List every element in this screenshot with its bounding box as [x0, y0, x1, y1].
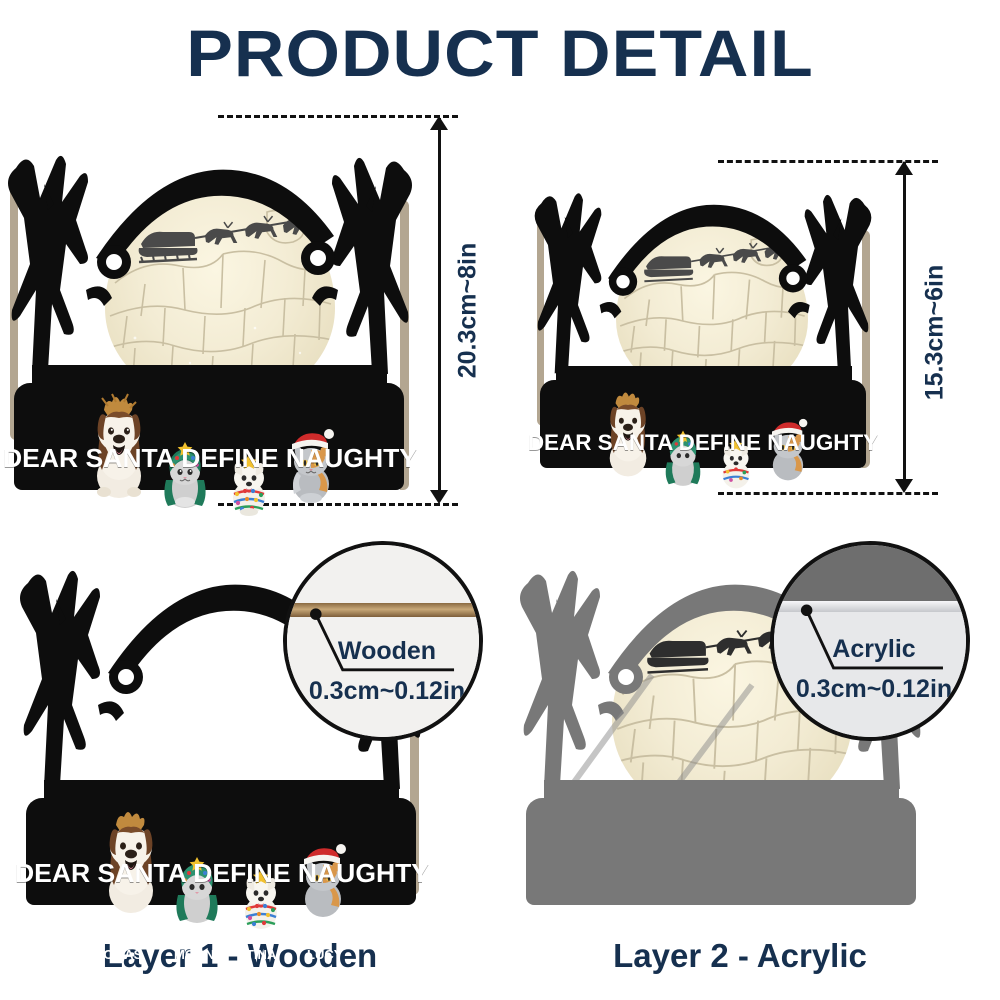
pet-name-2: TINA	[232, 532, 294, 547]
pet-name-small-2: TINA	[726, 500, 752, 512]
ornament-full-size: THOMAS MOON TINA LUCY DEAR SANTA DEFINE …	[0, 140, 430, 500]
dim-top-dashline-full	[218, 115, 458, 118]
slogan-text: DEAR SANTA DEFINE NAUGHTY	[0, 443, 424, 474]
callout-wooden-thickness: 0.3cm~0.12in	[287, 677, 483, 706]
plaque-shoulder-small	[556, 366, 852, 400]
product-detail-page: PRODUCT DETAIL	[0, 0, 1000, 1000]
dim-arrow-up-full	[430, 116, 448, 130]
plaque-shoulder-layer2	[544, 780, 899, 820]
pet-name-layer1-3: LUCY	[307, 947, 342, 962]
pet-name-layer1-0: THOMAS	[86, 947, 142, 962]
pet-name-layer1-1: MOON	[174, 947, 214, 962]
pet-name-1: MOON	[162, 532, 232, 547]
pet-name-small-0: THOMAS	[596, 500, 644, 512]
dim-vline-full	[438, 118, 441, 500]
ornament-small-size: THOMAS MOON TINA LUCY DEAR SANTA DEFINE …	[528, 180, 888, 470]
pet-name-small-1: MOON	[666, 500, 700, 512]
pet-name-0: THOMAS	[74, 532, 154, 547]
dim-label-full-height: 20.3cm~8in	[453, 243, 482, 379]
dim-label-small-height: 15.3cm~6in	[920, 265, 949, 401]
plaque-shoulder	[32, 365, 387, 405]
callout-wooden-material: Wooden	[287, 637, 483, 666]
dim-arrow-down-small	[895, 479, 913, 493]
pet-name-small-3: LUCY	[778, 500, 808, 512]
callout-acrylic-thickness: 0.3cm~0.12in	[774, 675, 970, 704]
callout-acrylic: Acrylic 0.3cm~0.12in	[770, 541, 970, 741]
dim-vline-small	[903, 162, 906, 490]
callout-wooden: Wooden 0.3cm~0.12in	[283, 541, 483, 741]
callout-acrylic-material: Acrylic	[774, 635, 970, 664]
dim-arrow-down-full	[430, 490, 448, 504]
slogan-text-small: DEAR SANTA DEFINE NAUGHTY	[525, 430, 882, 456]
plaque-shoulder-layer1	[44, 780, 399, 820]
pet-name-layer1-2: TINA	[246, 947, 276, 962]
dim-arrow-up-small	[895, 161, 913, 175]
layer2-caption: Layer 2 - Acrylic	[540, 937, 940, 975]
slogan-text-layer1: DEAR SANTA DEFINE NAUGHTY	[8, 858, 436, 889]
page-title: PRODUCT DETAIL	[0, 14, 1000, 92]
